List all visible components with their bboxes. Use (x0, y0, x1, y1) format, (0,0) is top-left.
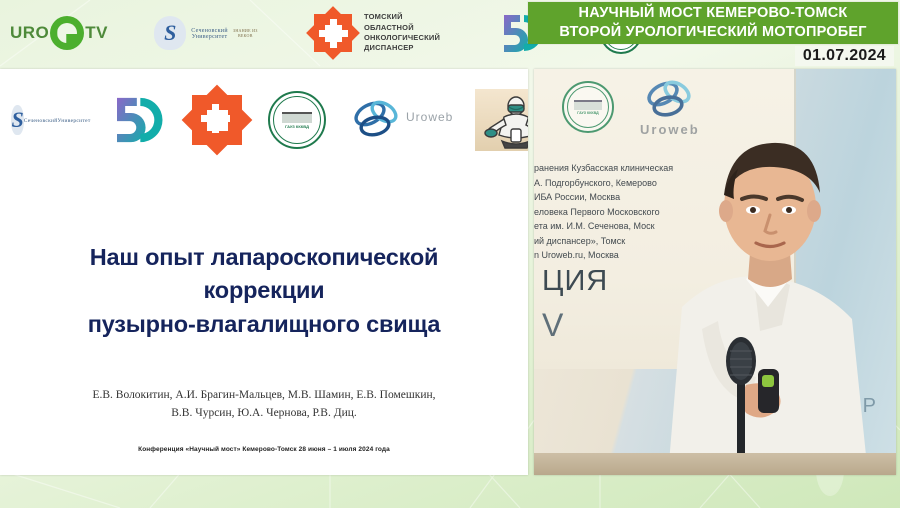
uroweb-knot-icon (641, 77, 699, 123)
tomsk-logo-line4: ДИСПАНСЕР (364, 43, 440, 53)
slide-kuzbass-seal: ГАУЗ КККВД (268, 91, 326, 149)
presentation-slide-panel[interactable]: S Сеченовский Университет (0, 69, 528, 475)
slide-sechenov-line1: Сеченовский (24, 118, 58, 124)
sechenov-tree-icon: S (11, 105, 23, 135)
slide-sechenov-line2: Университет (58, 118, 91, 124)
tomsk-oncology-star-icon (310, 10, 356, 56)
hospital-building-icon (574, 100, 602, 110)
uroweb-knot-icon (348, 98, 406, 142)
speaker-video-panel[interactable]: ГАУЗ КККВД Uroweb ранения Кузбасская (534, 69, 896, 475)
slide-authors: Е.В. Волокитин, А.И. Брагин-Мальцев, М.В… (0, 341, 528, 423)
sechenov-logo-line1: Сеченовский Университет (186, 28, 232, 40)
event-banner: НАУЧНЫЙ МОСТ КЕМЕРОВО-ТОМСК ВТОРОЙ УРОЛО… (528, 2, 898, 44)
event-date-badge: 01.07.2024 (795, 46, 894, 66)
presenter-desk (534, 453, 896, 475)
tomsk-logo-line1: ТОМСКИЙ (364, 12, 440, 22)
slide-tomsk-star-logo (188, 91, 246, 149)
event-banner-line2: ВТОРОЙ УРОЛОГИЧЕСКИЙ МОТОПРОБЕГ (559, 23, 866, 42)
projected-seal-text: ГАУЗ КККВД (577, 111, 598, 115)
uro-tv-logo-text-right: TV (85, 23, 108, 43)
slide-sechenov-logo: S Сеченовский Университет (14, 105, 88, 135)
tomsk-logo-line2: ОБЛАСТНОЙ (364, 23, 440, 33)
presenter-figure (642, 121, 896, 475)
motorcyclist-icon (478, 93, 528, 149)
kuzbass-clinical-hospital-seal: ГАУЗ КККВД (562, 81, 614, 133)
projected-slide-big-text: ЦИЯ (542, 265, 608, 298)
event-banner-line1: НАУЧНЫЙ МОСТ КЕМЕРОВО-ТОМСК (579, 4, 848, 23)
fifty-anniversary-icon (110, 91, 166, 149)
slide-title-line2: пузырно-влагалищного свища (28, 308, 500, 341)
slide-authors-line2: В.В. Чурсин, Ю.А. Чернова, Р.В. Диц. (40, 405, 488, 423)
slide-uroweb-logo: Uroweb (348, 98, 453, 142)
slide-uroweb-text: Uroweb (406, 110, 453, 124)
slide-footer: Конференция «Научный мост» Кемерово-Томс… (0, 446, 528, 453)
sechenov-tree-icon: S (154, 16, 186, 50)
bottom-band (0, 475, 900, 479)
sechenov-logo-line2: ЗНАНИЕ ИЗ ВЕКОВ (233, 28, 258, 38)
slide-logo-row: S Сеченовский Университет (0, 69, 528, 155)
projected-slide-big-text-2: V (542, 307, 563, 344)
slide-authors-line1: Е.В. Волокитин, А.И. Брагин-Мальцев, М.В… (40, 387, 488, 405)
uro-tv-logo: URO TV (6, 16, 108, 50)
uro-tv-logo-text-left: URO (10, 23, 49, 43)
slide-title: Наш опыт лапароскопической коррекции пуз… (0, 155, 528, 341)
hospital-building-icon (282, 112, 312, 123)
slide-fifty-logo (110, 91, 166, 149)
doctor-motorcyclist-illustration (475, 89, 528, 151)
uro-tv-logo-mark (50, 16, 84, 50)
slide-title-line1: Наш опыт лапароскопической коррекции (28, 241, 500, 308)
tomsk-oncology-center-logo: ТОМСКИЙ ОБЛАСТНОЙ ОНКОЛОГИЧЕСКИЙ ДИСПАНС… (310, 10, 440, 56)
tomsk-logo-line3: ОНКОЛОГИЧЕСКИЙ (364, 33, 440, 43)
screenshot-root: URO TV S Сеченовский Университет ЗНАНИЕ … (0, 0, 900, 508)
slide-seal-text: ГАУЗ КККВД (285, 124, 309, 129)
sechenov-university-logo: S Сеченовский Университет ЗНАНИЕ ИЗ ВЕКО… (154, 16, 258, 50)
